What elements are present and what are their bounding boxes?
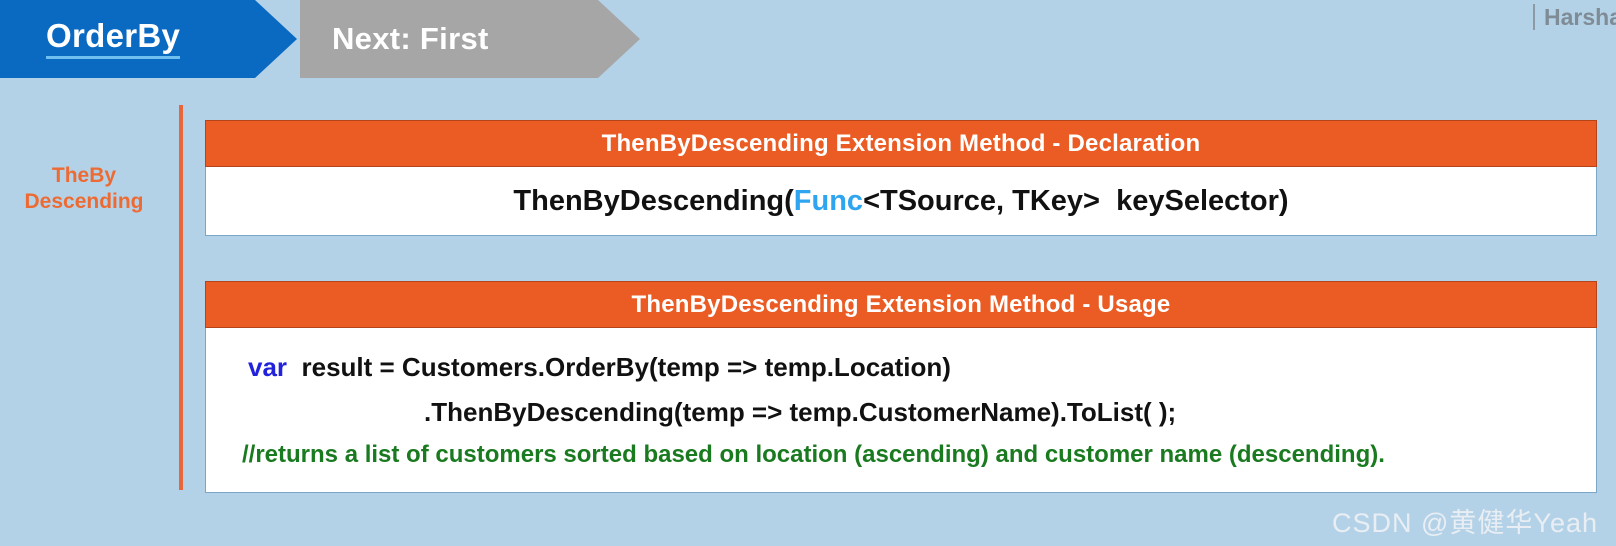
step-banner: OrderBy Next: First [0,0,1616,78]
usage-code-line-2: .ThenByDescending(temp => temp.CustomerN… [206,390,1596,435]
declaration-card: ThenByDescending Extension Method - Decl… [205,120,1597,236]
declaration-card-header: ThenByDescending Extension Method - Decl… [205,120,1597,167]
usage-card: ThenByDescending Extension Method - Usag… [205,281,1597,493]
content-area: ThenByDescending Extension Method - Decl… [205,120,1597,493]
declaration-code-suffix: <TSource, TKey> keySelector) [863,185,1289,217]
usage-card-body: var result = Customers.OrderBy(temp => t… [205,328,1597,493]
step-chevron-next-label: Next: First [332,23,489,56]
vertical-bar-icon [1533,4,1535,30]
usage-card-title: ThenByDescending Extension Method - Usag… [632,291,1171,319]
usage-code-line-1-rest: result = Customers.OrderBy(temp => temp.… [287,352,951,382]
declaration-code-signature: ThenByDescending(Func<TSource, TKey> key… [513,185,1288,218]
watermark: CSDN @黄健华Yeah [1332,501,1598,540]
section-label: TheBy Descending [0,163,168,216]
author-block: Harsha [1533,0,1616,34]
section-divider-rule [179,105,183,490]
declaration-code-prefix: ThenByDescending( [513,185,793,217]
declaration-card-title: ThenByDescending Extension Method - Decl… [602,130,1201,158]
section-label-line-1: TheBy [0,163,168,189]
step-chevron-orderby-label: OrderBy [46,19,180,60]
usage-code-comment-line: //returns a list of customers sorted bas… [206,434,1596,475]
step-chevron-orderby[interactable]: OrderBy [0,0,297,78]
section-label-line-2: Descending [0,189,168,215]
author-name: Harsha [1544,4,1616,31]
declaration-card-body: ThenByDescending(Func<TSource, TKey> key… [205,167,1597,236]
usage-card-header: ThenByDescending Extension Method - Usag… [205,281,1597,328]
step-chevron-next[interactable]: Next: First [300,0,640,78]
usage-code-line-1: var result = Customers.OrderBy(temp => t… [206,345,1596,390]
declaration-code-keyword-func: Func [794,185,863,217]
usage-code-keyword-var: var [248,352,287,382]
